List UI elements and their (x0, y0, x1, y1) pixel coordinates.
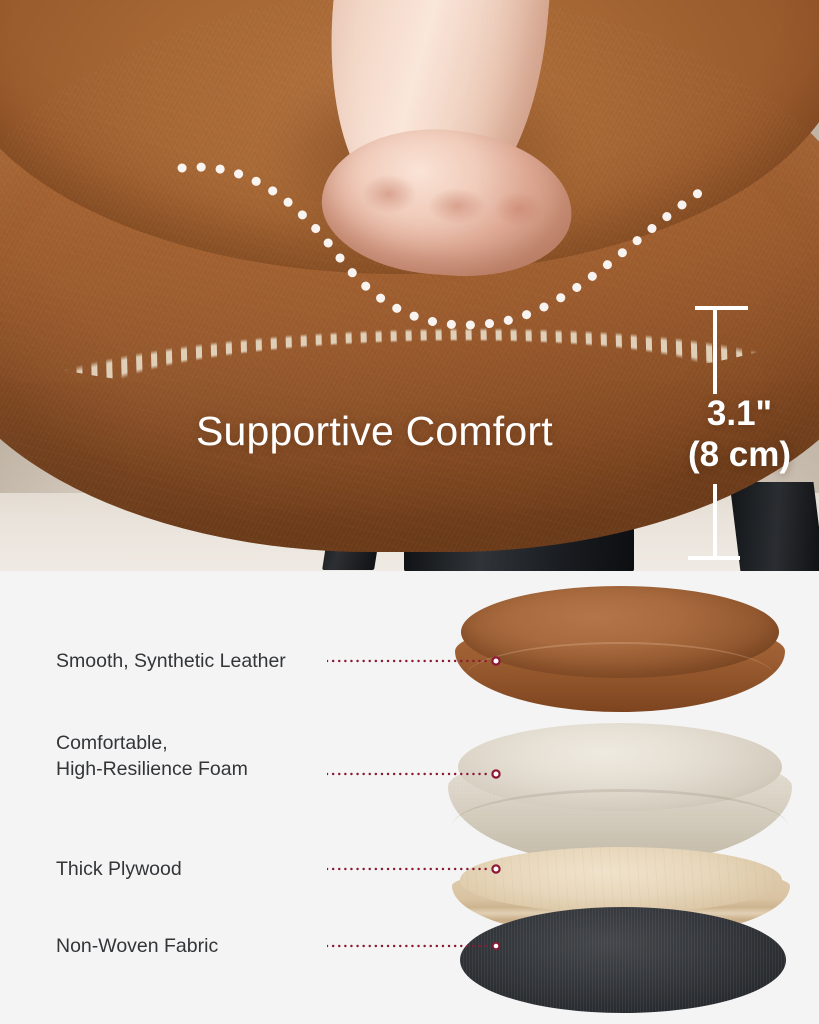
plywood-top (460, 847, 782, 913)
dimension-metric: (8 cm) (660, 435, 819, 476)
leader-leather (327, 654, 502, 668)
label-foam-line2: High-Resilience Foam (56, 757, 248, 783)
fabric-weave-texture (460, 907, 786, 1013)
product-feature-image: Supportive Comfort 3.1" (8 cm) (0, 0, 819, 1024)
label-leather: Smooth, Synthetic Leather (56, 649, 286, 675)
leader-line-foam-icon (327, 767, 502, 781)
leader-line-leather-icon (327, 654, 502, 668)
leader-line-fabric-icon (327, 939, 502, 953)
label-foam-line1: Comfortable, (56, 731, 248, 757)
label-plywood: Thick Plywood (56, 857, 182, 883)
label-fabric: Non-Woven Fabric (56, 934, 218, 960)
layer-fabric (460, 907, 786, 1013)
hero-caption: Supportive Comfort (196, 408, 553, 455)
label-fabric-line1: Non-Woven Fabric (56, 934, 218, 960)
dimension-imperial: 3.1" (660, 394, 819, 435)
label-foam: Comfortable, High-Resilience Foam (56, 731, 248, 782)
dimension-text: 3.1" (8 cm) (660, 394, 819, 475)
hero-photo-panel: Supportive Comfort 3.1" (8 cm) (0, 0, 819, 571)
label-plywood-line1: Thick Plywood (56, 857, 182, 883)
plywood-grain-texture (460, 847, 782, 913)
leader-foam (327, 767, 502, 781)
leader-plywood (327, 862, 502, 876)
leader-line-plywood-icon (327, 862, 502, 876)
fabric-disc (460, 907, 786, 1013)
leather-edge-seam (465, 642, 775, 712)
leader-fabric (327, 939, 502, 953)
layer-leather (455, 586, 785, 726)
label-leather-line1: Smooth, Synthetic Leather (56, 649, 286, 675)
exploded-layers-panel: Smooth, Synthetic Leather Comfortable, H… (0, 571, 819, 1024)
thickness-dimension: 3.1" (8 cm) (660, 282, 819, 571)
